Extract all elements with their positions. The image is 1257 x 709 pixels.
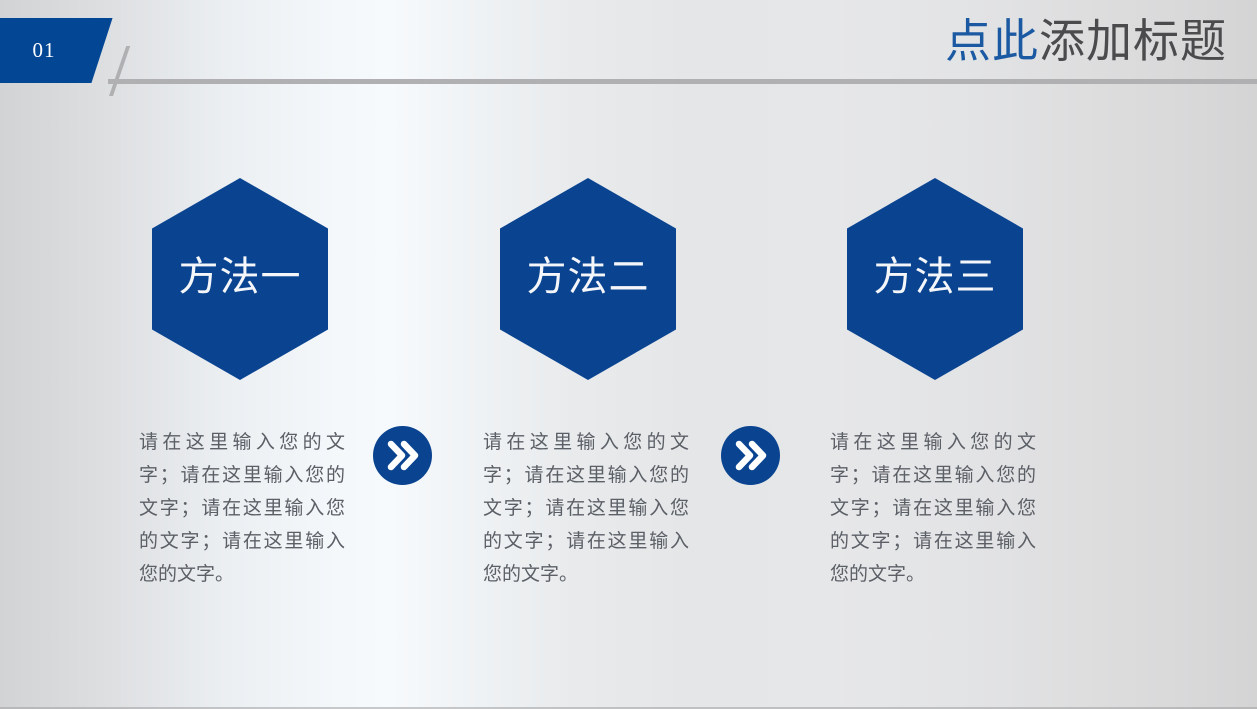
hexagon-badge-1[interactable]: 方法一 [152, 178, 328, 380]
hexagon-badge-3[interactable]: 方法三 [847, 178, 1023, 380]
hexagon-label-1: 方法一 [179, 244, 302, 302]
hexagon-label-2: 方法二 [527, 244, 650, 302]
method-column-3: 方法三 请在这里输入您的文字；请在这里输入您的文字；请在这里输入您的文字；请在这… [825, 178, 1045, 380]
hexagon-label-3: 方法三 [874, 244, 997, 302]
hexagon-badge-2[interactable]: 方法二 [500, 178, 676, 380]
method-column-1: 方法一 请在这里输入您的文字；请在这里输入您的文字；请在这里输入您的文字；请在这… [130, 178, 350, 380]
method-body-1: 请在这里输入您的文字；请在这里输入您的文字；请在这里输入您的文字；请在这里输入您… [139, 426, 345, 591]
double-chevron-right-icon [373, 426, 432, 485]
method-body-2: 请在这里输入您的文字；请在这里输入您的文字；请在这里输入您的文字；请在这里输入您… [483, 426, 689, 591]
method-column-2: 方法二 请在这里输入您的文字；请在这里输入您的文字；请在这里输入您的文字；请在这… [478, 178, 698, 380]
method-body-3: 请在这里输入您的文字；请在这里输入您的文字；请在这里输入您的文字；请在这里输入您… [830, 426, 1036, 591]
double-chevron-right-icon [721, 426, 780, 485]
methods-group: 方法一 请在这里输入您的文字；请在这里输入您的文字；请在这里输入您的文字；请在这… [0, 0, 1257, 709]
slide-canvas: 01 点此添加标题 方法一 请在这里输入您的文字；请在这里输入您的文字；请在这里… [0, 0, 1257, 709]
